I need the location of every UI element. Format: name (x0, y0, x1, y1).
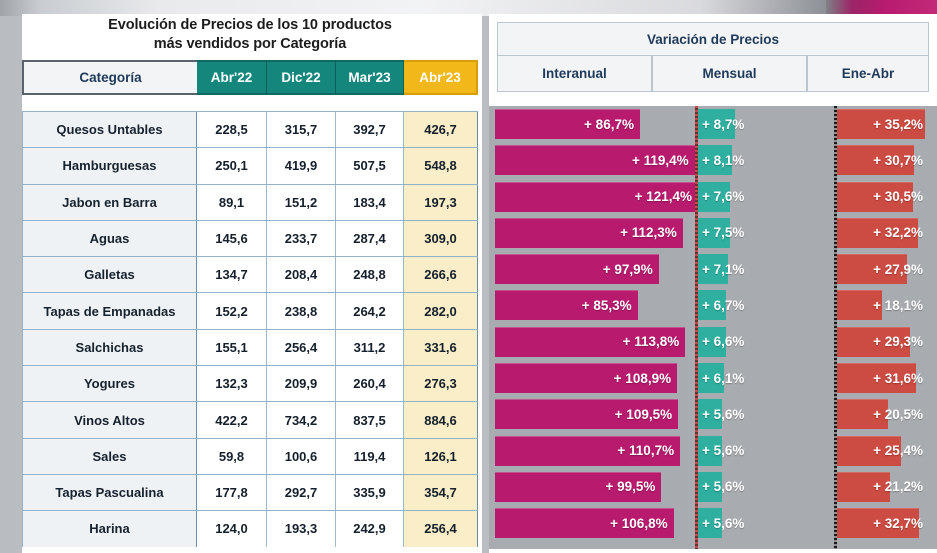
cell-price-abr23: 354,7 (404, 475, 478, 510)
variation-title: Variación de Precios (497, 22, 929, 56)
column-header-ene-abr: Ene-Abr (807, 56, 929, 92)
cell-price-abr22: 155,1 (197, 330, 267, 365)
cell-price-dic22: 151,2 (267, 185, 336, 220)
bar-label-mensual: + 5,6% (702, 508, 744, 538)
bar-label-interanual: + 121,4% (606, 182, 692, 212)
bar-label-ene-abr: + 25,4% (837, 436, 927, 466)
bar-label-ene-abr: + 35,2% (837, 109, 927, 139)
bar-row: + 108,9%+ 6,1%+ 31,6% (489, 360, 937, 396)
right-panel-bottom-edge (489, 549, 937, 553)
cell-price-abr22: 59,8 (197, 439, 267, 474)
bar-row: + 106,8%+ 5,6%+ 32,7% (489, 505, 937, 541)
cell-categoria: Yogures (22, 366, 197, 401)
bar-label-ene-abr: + 29,3% (837, 327, 927, 357)
cell-price-mar23: 264,2 (336, 293, 404, 328)
cell-price-abr23: 309,0 (404, 221, 478, 256)
cell-price-mar23: 248,8 (336, 257, 404, 292)
bar-row: + 113,8%+ 6,6%+ 29,3% (489, 324, 937, 360)
bar-label-interanual: + 99,5% (569, 472, 655, 502)
cell-price-mar23: 242,9 (336, 511, 404, 546)
cell-price-abr23: 126,1 (404, 439, 478, 474)
bar-row: + 109,5%+ 5,6%+ 20,5% (489, 396, 937, 432)
cell-categoria: Tapas de Empanadas (22, 293, 197, 328)
cell-price-abr23: 276,3 (404, 366, 478, 401)
bar-label-interanual: + 97,9% (567, 254, 653, 284)
cell-categoria: Jabon en Barra (22, 185, 197, 220)
chart-title: Evolución de Precios de los 10 productos… (22, 16, 478, 54)
cell-price-mar23: 392,7 (336, 112, 404, 147)
bar-label-interanual: + 110,7% (588, 436, 674, 466)
cell-price-mar23: 335,9 (336, 475, 404, 510)
bar-label-ene-abr: + 30,5% (837, 182, 927, 212)
cell-price-abr23: 548,8 (404, 148, 478, 183)
cell-price-abr23: 282,0 (404, 293, 478, 328)
cell-price-mar23: 287,4 (336, 221, 404, 256)
variation-bars-area: + 86,7%+ 8,7%+ 35,2%+ 119,4%+ 8,1%+ 30,7… (489, 106, 937, 553)
column-header-mensual: Mensual (652, 56, 807, 92)
cell-price-dic22: 315,7 (267, 112, 336, 147)
bar-label-ene-abr: + 21,2% (837, 472, 927, 502)
chart-title-line-1: Evolución de Precios de los 10 productos (22, 16, 478, 35)
bar-label-interanual: + 108,9% (585, 363, 671, 393)
bar-label-mensual: + 6,7% (702, 290, 744, 320)
bar-row: + 112,3%+ 7,5%+ 32,2% (489, 215, 937, 251)
cell-categoria: Quesos Untables (22, 112, 197, 147)
left-panel-bottom-edge (22, 549, 482, 553)
bar-label-interanual: + 86,7% (548, 109, 634, 139)
table-row: Tapas de Empanadas152,2238,8264,2282,0 (22, 292, 478, 328)
cell-price-mar23: 837,5 (336, 402, 404, 437)
bar-label-mensual: + 8,1% (702, 145, 744, 175)
cell-price-mar23: 119,4 (336, 439, 404, 474)
cell-price-mar23: 260,4 (336, 366, 404, 401)
bar-label-ene-abr: + 32,7% (837, 508, 927, 538)
price-table-body: Quesos Untables228,5315,7392,7426,7Hambu… (22, 111, 482, 547)
bar-row: + 119,4%+ 8,1%+ 30,7% (489, 142, 937, 178)
table-row: Harina124,0193,3242,9256,4 (22, 510, 478, 546)
bar-label-ene-abr: + 27,9% (837, 254, 927, 284)
cell-price-dic22: 238,8 (267, 293, 336, 328)
bar-row: + 86,7%+ 8,7%+ 35,2% (489, 106, 937, 142)
bar-label-mensual: + 5,6% (702, 399, 744, 429)
bar-row: + 121,4%+ 7,6%+ 30,5% (489, 179, 937, 215)
variation-header-row: Interanual Mensual Ene-Abr (497, 56, 929, 92)
cell-price-abr22: 145,6 (197, 221, 267, 256)
column-header-mar23: Mar'23 (336, 60, 404, 95)
cell-price-dic22: 256,4 (267, 330, 336, 365)
bar-label-interanual: + 112,3% (591, 218, 677, 248)
bar-label-mensual: + 6,1% (702, 363, 744, 393)
cell-price-dic22: 193,3 (267, 511, 336, 546)
table-row: Tapas Pascualina177,8292,7335,9354,7 (22, 474, 478, 510)
chart-title-line-2: más vendidos por Categoría (22, 35, 478, 54)
cell-categoria: Galletas (22, 257, 197, 292)
bar-label-ene-abr: + 20,5% (837, 399, 927, 429)
cell-price-abr23: 256,4 (404, 511, 478, 546)
bar-row: + 110,7%+ 5,6%+ 25,4% (489, 433, 937, 469)
cell-price-abr22: 177,8 (197, 475, 267, 510)
table-row: Vinos Altos422,2734,2837,5884,6 (22, 401, 478, 437)
cell-price-abr23: 884,6 (404, 402, 478, 437)
table-row: Galletas134,7208,4248,8266,6 (22, 256, 478, 292)
bar-label-interanual: + 113,8% (593, 327, 679, 357)
cell-price-dic22: 292,7 (267, 475, 336, 510)
cell-categoria: Sales (22, 439, 197, 474)
cell-price-dic22: 419,9 (267, 148, 336, 183)
cell-price-abr22: 250,1 (197, 148, 267, 183)
cell-price-dic22: 209,9 (267, 366, 336, 401)
cell-price-dic22: 208,4 (267, 257, 336, 292)
cell-price-abr22: 89,1 (197, 185, 267, 220)
bar-label-ene-abr: + 30,7% (837, 145, 927, 175)
bar-label-mensual: + 7,5% (702, 218, 744, 248)
bar-label-mensual: + 7,1% (702, 254, 744, 284)
bar-label-interanual: + 85,3% (546, 290, 632, 320)
bar-label-interanual: + 119,4% (603, 145, 689, 175)
table-row: Sales59,8100,6119,4126,1 (22, 438, 478, 474)
column-header-dic22: Dic'22 (267, 60, 336, 95)
bar-row: + 99,5%+ 5,6%+ 21,2% (489, 469, 937, 505)
ene-abr-divider-dotted-line (834, 106, 837, 553)
cell-price-mar23: 311,2 (336, 330, 404, 365)
cell-price-abr23: 426,7 (404, 112, 478, 147)
table-row: Hamburguesas250,1419,9507,5548,8 (22, 147, 478, 183)
cell-categoria: Salchichas (22, 330, 197, 365)
cell-price-abr23: 197,3 (404, 185, 478, 220)
bar-label-mensual: + 6,6% (702, 327, 744, 357)
cell-price-abr22: 152,2 (197, 293, 267, 328)
cell-categoria: Tapas Pascualina (22, 475, 197, 510)
bar-label-ene-abr: + 32,2% (837, 218, 927, 248)
bar-label-mensual: + 5,6% (702, 472, 744, 502)
cell-categoria: Hamburguesas (22, 148, 197, 183)
bar-row: + 97,9%+ 7,1%+ 27,9% (489, 251, 937, 287)
table-row: Aguas145,6233,7287,4309,0 (22, 220, 478, 256)
cell-price-dic22: 100,6 (267, 439, 336, 474)
bar-label-interanual: + 109,5% (586, 399, 672, 429)
cell-categoria: Aguas (22, 221, 197, 256)
column-header-categoria: Categoría (22, 60, 197, 95)
cell-price-dic22: 233,7 (267, 221, 336, 256)
bar-label-mensual: + 5,6% (702, 436, 744, 466)
bar-label-interanual: + 106,8% (582, 508, 668, 538)
cell-price-dic22: 734,2 (267, 402, 336, 437)
bar-row: + 85,3%+ 6,7%+ 18,1% (489, 287, 937, 323)
cell-price-abr22: 124,0 (197, 511, 267, 546)
mensual-divider-dotted-line (695, 106, 698, 553)
cell-categoria: Harina (22, 511, 197, 546)
cell-price-abr22: 228,5 (197, 112, 267, 147)
cell-price-abr22: 422,2 (197, 402, 267, 437)
cell-categoria: Vinos Altos (22, 402, 197, 437)
cell-price-abr23: 331,6 (404, 330, 478, 365)
cell-price-abr22: 132,3 (197, 366, 267, 401)
cell-price-mar23: 507,5 (336, 148, 404, 183)
bar-label-ene-abr: + 31,6% (837, 363, 927, 393)
price-table-header-row: Categoría Abr'22 Dic'22 Mar'23 Abr'23 (22, 60, 482, 95)
cell-price-abr23: 266,6 (404, 257, 478, 292)
bar-label-ene-abr: + 18,1% (837, 290, 927, 320)
column-header-abr22: Abr'22 (197, 60, 267, 95)
column-header-interanual: Interanual (497, 56, 652, 92)
cell-price-mar23: 183,4 (336, 185, 404, 220)
cell-price-abr22: 134,7 (197, 257, 267, 292)
bar-label-mensual: + 8,7% (702, 109, 744, 139)
column-header-abr23: Abr'23 (404, 60, 478, 95)
bar-label-mensual: + 7,6% (702, 182, 744, 212)
table-row: Salchichas155,1256,4311,2331,6 (22, 329, 478, 365)
table-row: Yogures132,3209,9260,4276,3 (22, 365, 478, 401)
table-row: Jabon en Barra89,1151,2183,4197,3 (22, 184, 478, 220)
table-row: Quesos Untables228,5315,7392,7426,7 (22, 111, 478, 147)
